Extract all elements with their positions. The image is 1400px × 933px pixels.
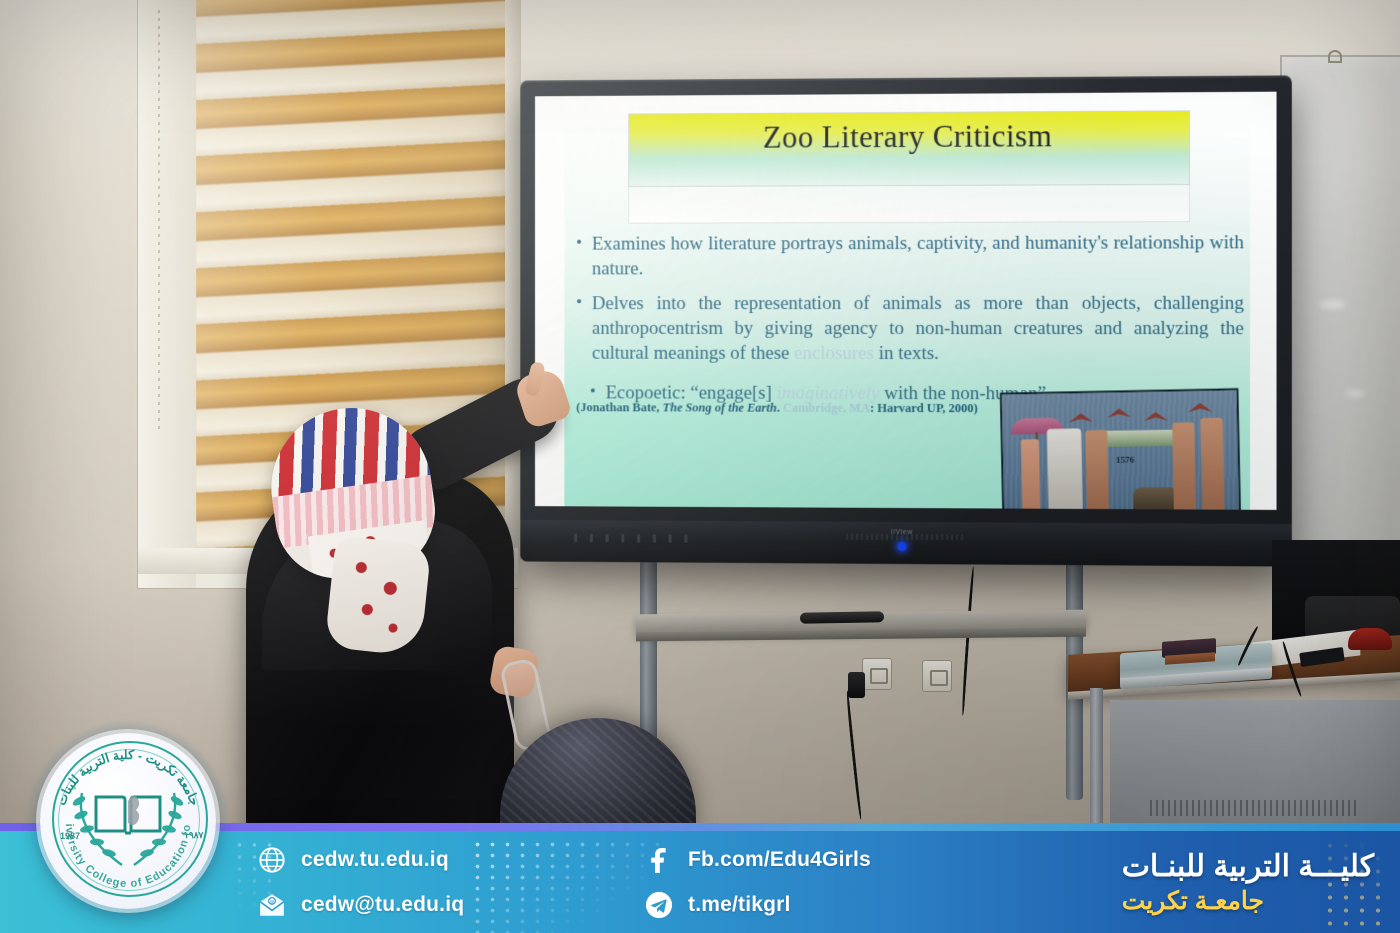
slide-bullet-1: Examines how literature portrays animals… [576, 231, 1244, 282]
banner-dot-pattern [470, 839, 670, 933]
papyrus-jackal-figure [1172, 422, 1196, 510]
presentation-slide: Zoo Literary Criticism Examines how lite… [535, 92, 1277, 510]
citation-open: (Jonathan Bate, [576, 400, 662, 414]
whiteboard-hook [1328, 50, 1342, 63]
bullet-1-text: Examines how literature portrays animals… [592, 232, 1244, 279]
whiteboard [1280, 55, 1400, 604]
whiteboard-marker[interactable] [800, 611, 884, 623]
citation-work-title: The Song of the Earth [663, 400, 777, 414]
telegram-icon [645, 891, 673, 919]
citation-close: : Harvard UP, 2000) [870, 401, 978, 415]
whiteboard-smudge [1345, 390, 1365, 397]
display-sensor-strip [574, 534, 692, 543]
citation-place: Cambridge, MA [783, 401, 870, 415]
desk-modesty-panel [1110, 700, 1400, 838]
university-name-arabic: جامعـة تكريت [1122, 886, 1264, 916]
laurel-wreath-icon [52, 745, 204, 897]
logo-year-latin: 1987 [60, 831, 80, 841]
window-jamb [138, 0, 196, 588]
bullet-2-text-faded: enclosures [794, 343, 874, 364]
papyrus-year-label: 1576 [1116, 455, 1134, 465]
display-screen[interactable]: Zoo Literary Criticism Examines how lite… [535, 92, 1277, 510]
slide-bullet-2: Delves into the representation of animal… [576, 292, 1244, 367]
desk-vent [1150, 800, 1360, 816]
contact-column-left: cedw.tu.edu.iq @ cedw@tu.edu.iq [258, 831, 464, 933]
slide-right-margin [1250, 92, 1276, 510]
slide-title-underbox [628, 183, 1190, 224]
display-power-led[interactable] [898, 542, 907, 551]
wall-socket[interactable] [862, 658, 892, 690]
telegram-label: t.me/tikgrl [688, 893, 791, 917]
display-brand-label: iiView [891, 529, 913, 536]
wall-socket[interactable] [922, 660, 952, 692]
globe-icon [258, 846, 286, 874]
slide-title-band: Zoo Literary Criticism [628, 110, 1190, 187]
papyrus-cat-figure [1047, 428, 1083, 510]
display-bezel-bottom: iiView [520, 520, 1292, 567]
blind-cord[interactable] [158, 10, 160, 430]
facebook-icon [645, 846, 673, 874]
institution-name-arabic: كليـــة التربية للبنـات جامعـة تكريت [1122, 831, 1374, 933]
email-label: cedw@tu.edu.iq [301, 893, 464, 917]
logo-year-arabic: ١٩٨٧ [184, 830, 203, 841]
presenter-scarf-drape-pattern [331, 544, 427, 650]
contact-email[interactable]: @ cedw@tu.edu.iq [258, 891, 464, 919]
website-label: cedw.tu.edu.iq [301, 848, 449, 872]
interactive-display[interactable]: Zoo Literary Criticism Examines how lite… [520, 75, 1292, 566]
screenshot-root: Zoo Literary Criticism Examines how lite… [0, 0, 1400, 933]
facebook-label: Fb.com/Edu4Girls [688, 848, 871, 872]
desk-leg [1090, 688, 1103, 838]
papyrus-jackal-figure [1085, 430, 1109, 510]
papyrus-figure [1021, 439, 1041, 510]
college-name-arabic: كليـــة التربية للبنـات [1122, 849, 1374, 884]
slide-papyrus-image: 1576 [1000, 388, 1242, 510]
email-icon: @ [258, 891, 286, 919]
contact-telegram[interactable]: t.me/tikgrl [645, 891, 871, 919]
power-plug[interactable] [848, 672, 865, 698]
papyrus-jackal-figure [1200, 418, 1224, 510]
desk-red-object[interactable] [1348, 628, 1392, 650]
contact-facebook[interactable]: Fb.com/Edu4Girls [645, 846, 871, 874]
svg-text:@: @ [269, 899, 274, 905]
bullet-2-text-b: in texts. [874, 343, 939, 364]
contact-column-right: Fb.com/Edu4Girls t.me/tikgrl [645, 831, 871, 933]
slide-title: Zoo Literary Criticism [629, 117, 1189, 156]
window-right-edge [505, 0, 521, 588]
slide-left-margin [535, 96, 564, 506]
contact-website[interactable]: cedw.tu.edu.iq [258, 846, 464, 874]
whiteboard-smudge [1320, 300, 1346, 309]
